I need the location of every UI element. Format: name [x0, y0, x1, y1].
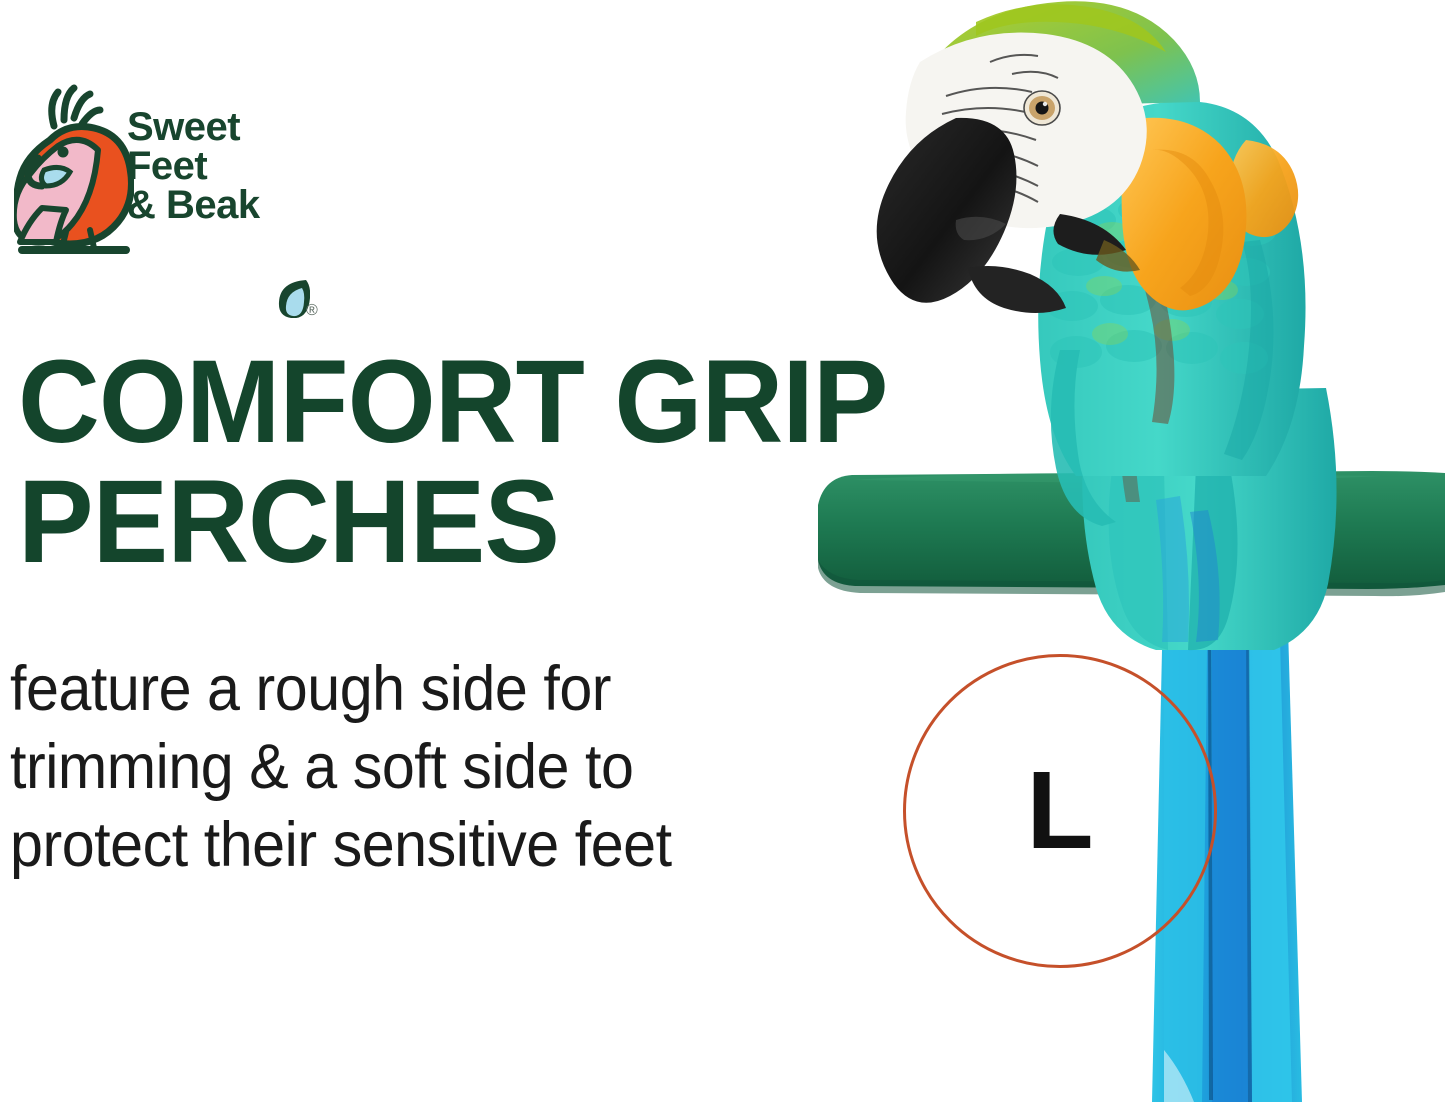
subcopy-line-1: feature a rough side for [10, 650, 753, 728]
brand-wordmark: Sweet Feet & Beak [127, 108, 287, 226]
brand-logo: Sweet Feet & Beak ® [14, 84, 324, 264]
cockatiel-bird-logo-icon [14, 84, 134, 259]
registered-trademark-symbol: ® [306, 302, 318, 320]
marketing-banner: L [0, 0, 1445, 1102]
headline-line-2: PERCHES [18, 462, 1007, 582]
brand-name-line-3: & Beak [127, 186, 287, 225]
size-badge: L [903, 654, 1217, 968]
leaf-icon [276, 276, 310, 318]
size-badge-label: L [906, 657, 1214, 965]
brand-name-line-1: Sweet [127, 108, 287, 147]
subcopy-line-2: trimming & a soft side to [10, 728, 753, 806]
product-description: feature a rough side for trimming & a so… [10, 650, 753, 884]
headline-line-1: COMFORT GRIP [18, 342, 1007, 462]
page-title: COMFORT GRIP PERCHES [18, 342, 1007, 583]
brand-name-line-2: Feet [127, 147, 287, 186]
parrot-eye [1024, 91, 1060, 125]
subcopy-line-3: protect their sensitive feet [10, 806, 753, 884]
